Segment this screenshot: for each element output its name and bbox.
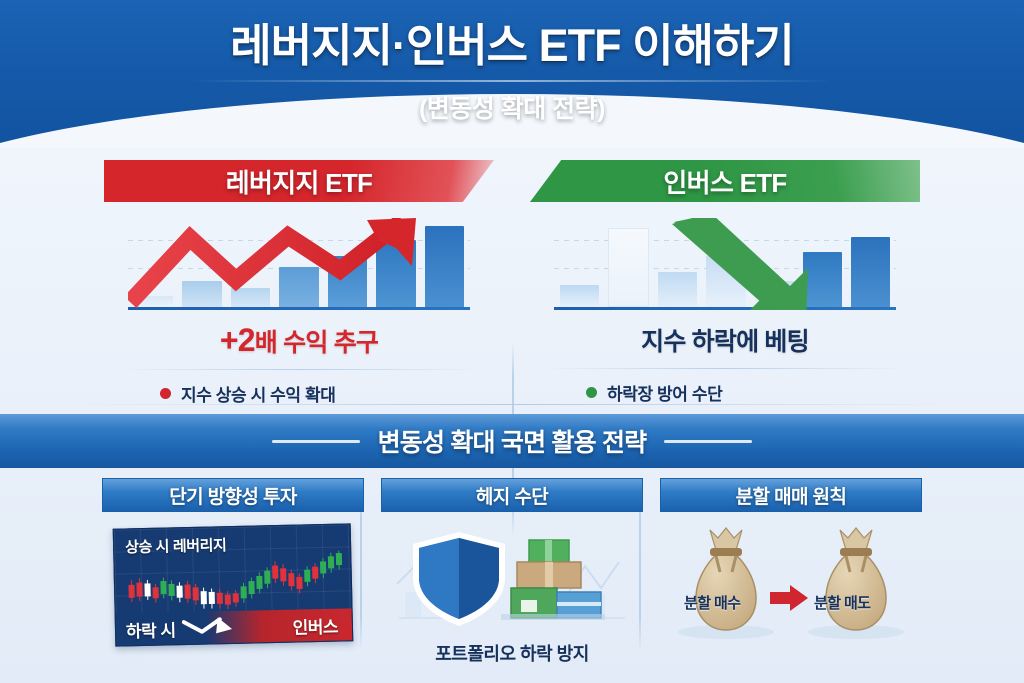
money-bags-icon [666, 520, 916, 650]
hedge-caption: 포트폴리오 하락 방지 [381, 640, 643, 666]
leverage-bars [134, 219, 464, 307]
card-inverse-etf: 인버스 ETF 지 [530, 160, 920, 400]
list-item: 지수 상승 시 수익 확대 [160, 381, 494, 406]
candlestick-down-label: 하락 시 [126, 616, 176, 642]
panel-title: 헤지 수단 [476, 482, 548, 509]
panel-header: 분할 매매 원칙 [660, 478, 922, 512]
section-separator [58, 404, 966, 405]
panel-header: 단기 방향성 투자 [102, 478, 364, 512]
bar [328, 256, 367, 307]
bullet-dot-icon [160, 388, 171, 399]
infographic-root: 레버지지·인버스 ETF 이해하기 (변동성 확대 전략) 레버지지 ETF [0, 0, 1024, 683]
inverse-ribbon-label: 인버스 ETF [663, 163, 786, 200]
bag-left-label: 분할 매수 [684, 592, 740, 613]
hedge-scene-icon [393, 522, 631, 634]
panel-hedge-tool: 헤지 수단 [381, 478, 643, 666]
hedge-illustration [393, 522, 631, 634]
inverse-claim: 지수 하락에 베팅 [530, 322, 920, 358]
strategy-banner-title: 변동성 확대 국면 활용 전략 [378, 423, 647, 459]
down-arrow-icon [181, 615, 246, 640]
bullet-label: 하락장 방어 수단 [607, 380, 722, 405]
candlestick-card: 상승 시 레버리지 [113, 523, 354, 646]
leverage-claim: +2배 수익 추구 [104, 322, 494, 359]
bar [376, 240, 415, 307]
list-item: 하락장 방어 수단 [586, 380, 920, 405]
inverse-bars [560, 219, 890, 307]
bar [134, 296, 173, 307]
bar [658, 272, 697, 307]
bar [851, 237, 890, 307]
inverse-ribbon: 인버스 ETF [530, 160, 920, 202]
leverage-ribbon-label: 레버지지 ETF [226, 163, 372, 200]
bag-right-label: 분할 매도 [814, 592, 870, 613]
divider [544, 368, 906, 369]
bar [231, 288, 270, 307]
leverage-bar-chart [128, 218, 470, 310]
bar [803, 252, 842, 307]
header-rule [192, 80, 832, 82]
bar [425, 226, 464, 307]
bar [182, 281, 221, 307]
bar [279, 267, 318, 307]
candlestick-chart-icon [122, 550, 353, 617]
panel-short-term-direction: 단기 방향성 투자 상승 시 레버리지 [102, 478, 364, 644]
panel-title: 분할 매매 원칙 [736, 482, 847, 509]
strategy-banner: 변동성 확대 국면 활용 전략 [0, 414, 1024, 468]
panel-split-trading: 분할 매매 원칙 [660, 478, 922, 650]
bullet-label: 지수 상승 시 수익 확대 [181, 381, 335, 406]
page-subtitle: (변동성 확대 전략) [0, 89, 1024, 125]
inverse-bar-chart [554, 218, 896, 310]
header-banner: 레버지지·인버스 ETF 이해하기 (변동성 확대 전략) [0, 0, 1024, 148]
bar [706, 256, 745, 307]
strategy-panels: 단기 방향성 투자 상승 시 레버리지 [0, 478, 1024, 668]
panel-title: 단기 방향성 투자 [169, 482, 297, 509]
divider [118, 369, 480, 370]
panel-header: 헤지 수단 [381, 478, 643, 512]
bar [755, 281, 794, 307]
leverage-ribbon: 레버지지 ETF [104, 160, 494, 202]
chart-baseline [554, 307, 896, 310]
card-leverage-etf: 레버지지 ETF [104, 160, 494, 400]
leverage-claim-multiplier: +2 [220, 322, 255, 358]
candlestick-down-strip: 하락 시 인버스 [116, 608, 353, 645]
bar [608, 228, 649, 307]
leverage-claim-text: 배 수익 추구 [255, 329, 378, 357]
chart-baseline [128, 307, 470, 310]
bullet-dot-icon [586, 387, 597, 398]
page-title: 레버지지·인버스 ETF 이해하기 [0, 22, 1024, 71]
money-bags-illustration: 분할 매수 분할 매도 [666, 520, 916, 650]
bar [560, 285, 599, 307]
inverse-strip-label: 인버스 [292, 612, 338, 638]
banner-line-right [664, 440, 752, 443]
banner-line-left [272, 440, 360, 443]
etf-comparison-cards: 레버지지 ETF [0, 160, 1024, 400]
